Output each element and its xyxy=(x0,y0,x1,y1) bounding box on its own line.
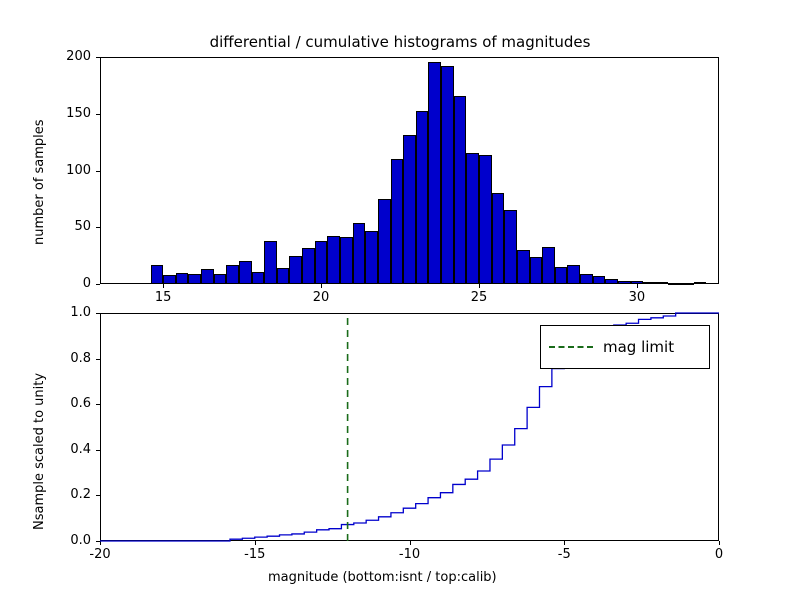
dashed-line-icon xyxy=(549,346,593,348)
figure: differential / cumulative histograms of … xyxy=(0,0,800,600)
cumulative-curve-layer xyxy=(0,0,800,600)
legend-label: mag limit xyxy=(603,338,674,356)
legend[interactable]: mag limit xyxy=(540,325,710,369)
legend-entry-mag-limit: mag limit xyxy=(541,326,709,368)
